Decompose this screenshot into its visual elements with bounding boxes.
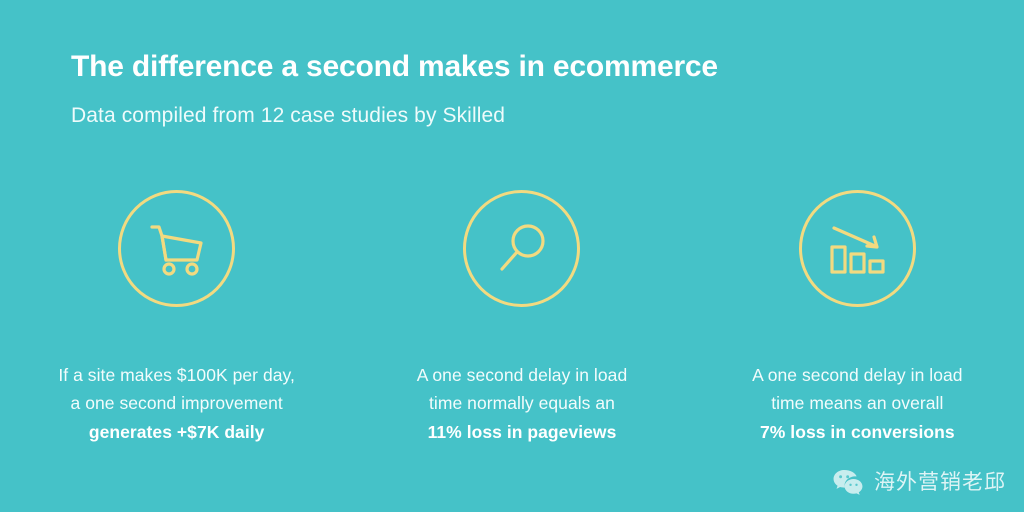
caption-line-1: If a site makes $100K per day, [58,361,295,389]
caption-line-2: a one second improvement [58,389,295,417]
caption-highlight: 7% loss in conversions [752,418,963,446]
stat-caption: A one second delay in load time means an… [752,361,963,446]
caption-line-1: A one second delay in load [417,361,628,389]
stat-column-cart: If a site makes $100K per day, a one sec… [10,190,343,446]
watermark: 海外营销老邱 [831,464,1006,498]
caption-line-2: time means an overall [752,389,963,417]
stat-column-chart: A one second delay in load time means an… [691,190,1024,446]
declining-bar-chart-icon [799,190,916,307]
caption-line-2: time normally equals an [417,389,628,417]
caption-line-1: A one second delay in load [752,361,963,389]
page-subtitle: Data compiled from 12 case studies by Sk… [71,103,951,128]
watermark-text: 海外营销老邱 [874,466,1006,496]
stat-caption: A one second delay in load time normally… [417,361,628,446]
stat-column-search: A one second delay in load time normally… [355,190,688,446]
stat-caption: If a site makes $100K per day, a one sec… [58,361,295,446]
wechat-logo [831,464,865,498]
page-title: The difference a second makes in ecommer… [71,50,951,85]
caption-highlight: generates +$7K daily [58,418,295,446]
header: The difference a second makes in ecommer… [71,50,951,128]
stat-columns: If a site makes $100K per day, a one sec… [0,190,1024,446]
magnifying-glass-icon [463,190,580,307]
shopping-cart-icon [118,190,235,307]
caption-highlight: 11% loss in pageviews [417,418,628,446]
infographic-canvas: The difference a second makes in ecommer… [0,0,1024,512]
